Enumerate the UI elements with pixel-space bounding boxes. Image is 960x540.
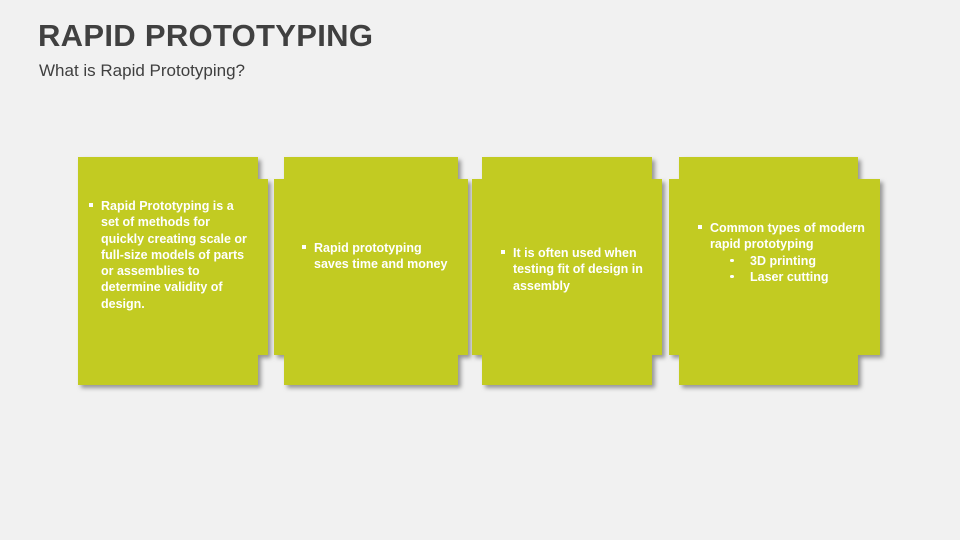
list-item: Rapid Prototyping is a set of methods fo… xyxy=(89,198,247,312)
chevron-step-1-content: Rapid Prototyping is a set of methods fo… xyxy=(89,198,247,312)
chevron-step-3-content: It is often used when testing fit of des… xyxy=(501,245,653,294)
bullet-list-4: Common types of modern rapid prototyping xyxy=(698,220,870,253)
list-item: 3D printing xyxy=(728,253,870,269)
list-item: Rapid prototyping saves time and money xyxy=(302,240,452,273)
bullet-list-1: Rapid Prototyping is a set of methods fo… xyxy=(89,198,247,312)
sub-bullet-list-4: 3D printing Laser cutting xyxy=(698,253,870,286)
chevron-step-4-content: Common types of modern rapid prototyping… xyxy=(698,220,870,285)
chevron-step-2-content: Rapid prototyping saves time and money xyxy=(302,240,452,273)
chevron-process-diagram: Rapid Prototyping is a set of methods fo… xyxy=(0,0,960,540)
bullet-list-2: Rapid prototyping saves time and money xyxy=(302,240,452,273)
list-item: Common types of modern rapid prototyping xyxy=(698,220,870,253)
slide-canvas: RAPID PROTOTYPING What is Rapid Prototyp… xyxy=(0,0,960,540)
list-item: It is often used when testing fit of des… xyxy=(501,245,653,294)
list-item: Laser cutting xyxy=(728,269,870,285)
bullet-list-3: It is often used when testing fit of des… xyxy=(501,245,653,294)
